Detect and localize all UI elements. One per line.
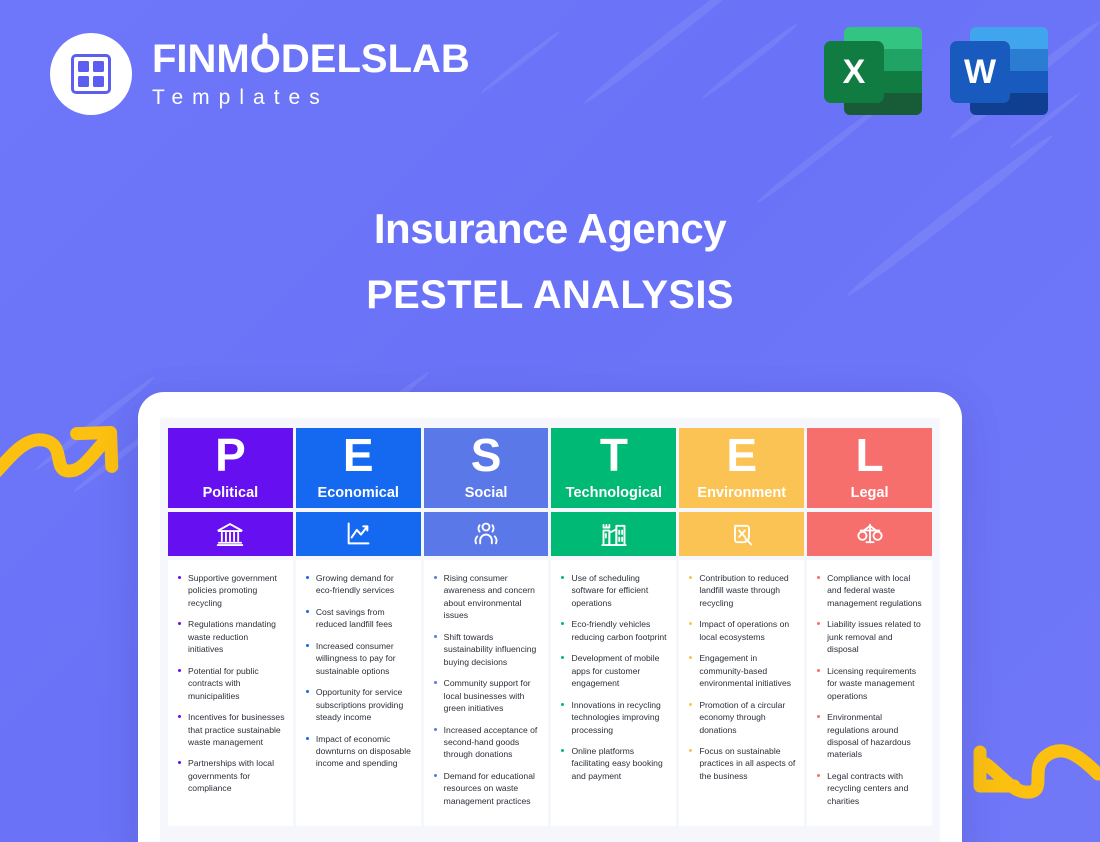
- pestel-letter: T: [600, 432, 628, 479]
- list-item: Partnerships with local governments for …: [175, 757, 285, 794]
- list-item: Supportive government policies promoting…: [175, 572, 285, 609]
- pestel-item-list: Compliance with local and federal waste …: [814, 572, 924, 807]
- brand-text: FINMODELSLAB Templates: [152, 39, 470, 110]
- list-item: Potential for public contracts with muni…: [175, 665, 285, 702]
- list-item: Environmental regulations around disposa…: [814, 711, 924, 761]
- list-item: Incentives for businesses that practice …: [175, 711, 285, 748]
- list-item: Promotion of a circular economy through …: [686, 699, 796, 736]
- pestel-body-environment: Contribution to reduced landfill waste t…: [679, 560, 804, 826]
- list-item: Regulations mandating waste reduction in…: [175, 618, 285, 655]
- brand-name-o: O: [250, 39, 281, 79]
- pestel-letter: S: [471, 432, 502, 479]
- list-item: Compliance with local and federal waste …: [814, 572, 924, 609]
- page-title: Insurance Agency PESTEL ANALYSIS: [0, 205, 1100, 318]
- brush-stroke: [701, 22, 799, 101]
- pestel-body-row: Supportive government policies promoting…: [168, 560, 932, 826]
- bank-icon: [168, 512, 293, 556]
- arrow-up-right-icon: [0, 405, 125, 485]
- list-item: Increased acceptance of second-hand good…: [431, 724, 541, 761]
- word-icon-letter: W: [950, 41, 1010, 103]
- pestel-icon-row: [168, 512, 932, 556]
- list-item: Demand for educational resources on wast…: [431, 770, 541, 807]
- list-item: Focus on sustainable practices in all as…: [686, 745, 796, 782]
- pestel-header-social[interactable]: SSocial: [424, 428, 549, 508]
- list-item: Licensing requirements for waste managem…: [814, 665, 924, 702]
- pestel-table: PPoliticalEEconomicalSSocialTTechnologic…: [168, 428, 932, 826]
- factory-icon: [551, 512, 676, 556]
- pestel-header-legal[interactable]: LLegal: [807, 428, 932, 508]
- pestel-label: Political: [203, 485, 259, 501]
- tablet-frame: PPoliticalEEconomicalSSocialTTechnologic…: [138, 392, 962, 842]
- list-item: Liability issues related to junk removal…: [814, 618, 924, 655]
- pestel-letter: E: [726, 432, 757, 479]
- pestel-item-list: Rising consumer awareness and concern ab…: [431, 572, 541, 807]
- scales-icon: [807, 512, 932, 556]
- pestel-label: Economical: [318, 485, 399, 501]
- pestel-body-economical: Growing demand for eco-friendly services…: [296, 560, 421, 826]
- list-item: Impact of economic downturns on disposab…: [303, 733, 413, 770]
- pestel-item-list: Growing demand for eco-friendly services…: [303, 572, 413, 770]
- list-item: Cost savings from reduced landfill fees: [303, 606, 413, 631]
- title-line-1: Insurance Agency: [0, 205, 1100, 253]
- tablet-screen: PPoliticalEEconomicalSSocialTTechnologic…: [160, 418, 940, 842]
- brand-name: FINMODELSLAB: [152, 39, 470, 79]
- pestel-item-list: Use of scheduling software for efficient…: [558, 572, 668, 782]
- pestel-label: Technological: [566, 485, 662, 501]
- pestel-header-political[interactable]: PPolitical: [168, 428, 293, 508]
- brand-logo: FINMODELSLAB Templates: [50, 33, 470, 115]
- list-item: Innovations in recycling technologies im…: [558, 699, 668, 736]
- pestel-letter: E: [343, 432, 374, 479]
- excel-icon-letter: X: [824, 41, 884, 103]
- excel-icon: X: [824, 27, 922, 119]
- pestel-body-political: Supportive government policies promoting…: [168, 560, 293, 826]
- pestel-letter: L: [856, 432, 884, 479]
- list-item: Eco-friendly vehicles reducing carbon fo…: [558, 618, 668, 643]
- title-line-2: PESTEL ANALYSIS: [0, 273, 1100, 318]
- pestel-header-row: PPoliticalEEconomicalSSocialTTechnologic…: [168, 428, 932, 508]
- pestel-letter: P: [215, 432, 246, 479]
- brand-name-part1: FINM: [152, 37, 250, 81]
- brush-stroke: [479, 30, 561, 96]
- pestel-label: Social: [465, 485, 508, 501]
- list-item: Contribution to reduced landfill waste t…: [686, 572, 796, 609]
- list-item: Impact of operations on local ecosystems: [686, 618, 796, 643]
- brush-stroke: [582, 0, 769, 107]
- list-item: Increased consumer willingness to pay fo…: [303, 640, 413, 677]
- pestel-body-technological: Use of scheduling software for efficient…: [551, 560, 676, 826]
- poster-canvas: FINMODELSLAB Templates X W Insurance Age…: [0, 0, 1100, 842]
- brand-subtitle: Templates: [152, 86, 470, 110]
- people-icon: [424, 512, 549, 556]
- list-item: Rising consumer awareness and concern ab…: [431, 572, 541, 622]
- list-item: Use of scheduling software for efficient…: [558, 572, 668, 609]
- arrow-down-left-icon: [950, 730, 1100, 820]
- brand-name-part2: DELSLAB: [281, 37, 470, 81]
- list-item: Community support for local businesses w…: [431, 677, 541, 714]
- line-chart-icon: [296, 512, 421, 556]
- word-icon: W: [950, 27, 1048, 119]
- pestel-item-list: Supportive government policies promoting…: [175, 572, 285, 795]
- pestel-item-list: Contribution to reduced landfill waste t…: [686, 572, 796, 782]
- pestel-label: Legal: [851, 485, 889, 501]
- list-item: Legal contracts with recycling centers a…: [814, 770, 924, 807]
- pestel-header-environment[interactable]: EEnvironment: [679, 428, 804, 508]
- list-item: Opportunity for service subscriptions pr…: [303, 686, 413, 723]
- pestel-header-economical[interactable]: EEconomical: [296, 428, 421, 508]
- list-item: Development of mobile apps for customer …: [558, 652, 668, 689]
- pestel-body-social: Rising consumer awareness and concern ab…: [424, 560, 549, 826]
- list-item: Online platforms facilitating easy booki…: [558, 745, 668, 782]
- list-item: Engagement in community-based environmen…: [686, 652, 796, 689]
- list-item: Shift towards sustainability influencing…: [431, 631, 541, 668]
- pestel-body-legal: Compliance with local and federal waste …: [807, 560, 932, 826]
- pestel-label: Environment: [697, 485, 786, 501]
- leaf-icon: [679, 512, 804, 556]
- grid-logo-icon: [50, 33, 132, 115]
- list-item: Growing demand for eco-friendly services: [303, 572, 413, 597]
- pestel-header-technological[interactable]: TTechnological: [551, 428, 676, 508]
- office-format-icons: X W: [824, 27, 1048, 119]
